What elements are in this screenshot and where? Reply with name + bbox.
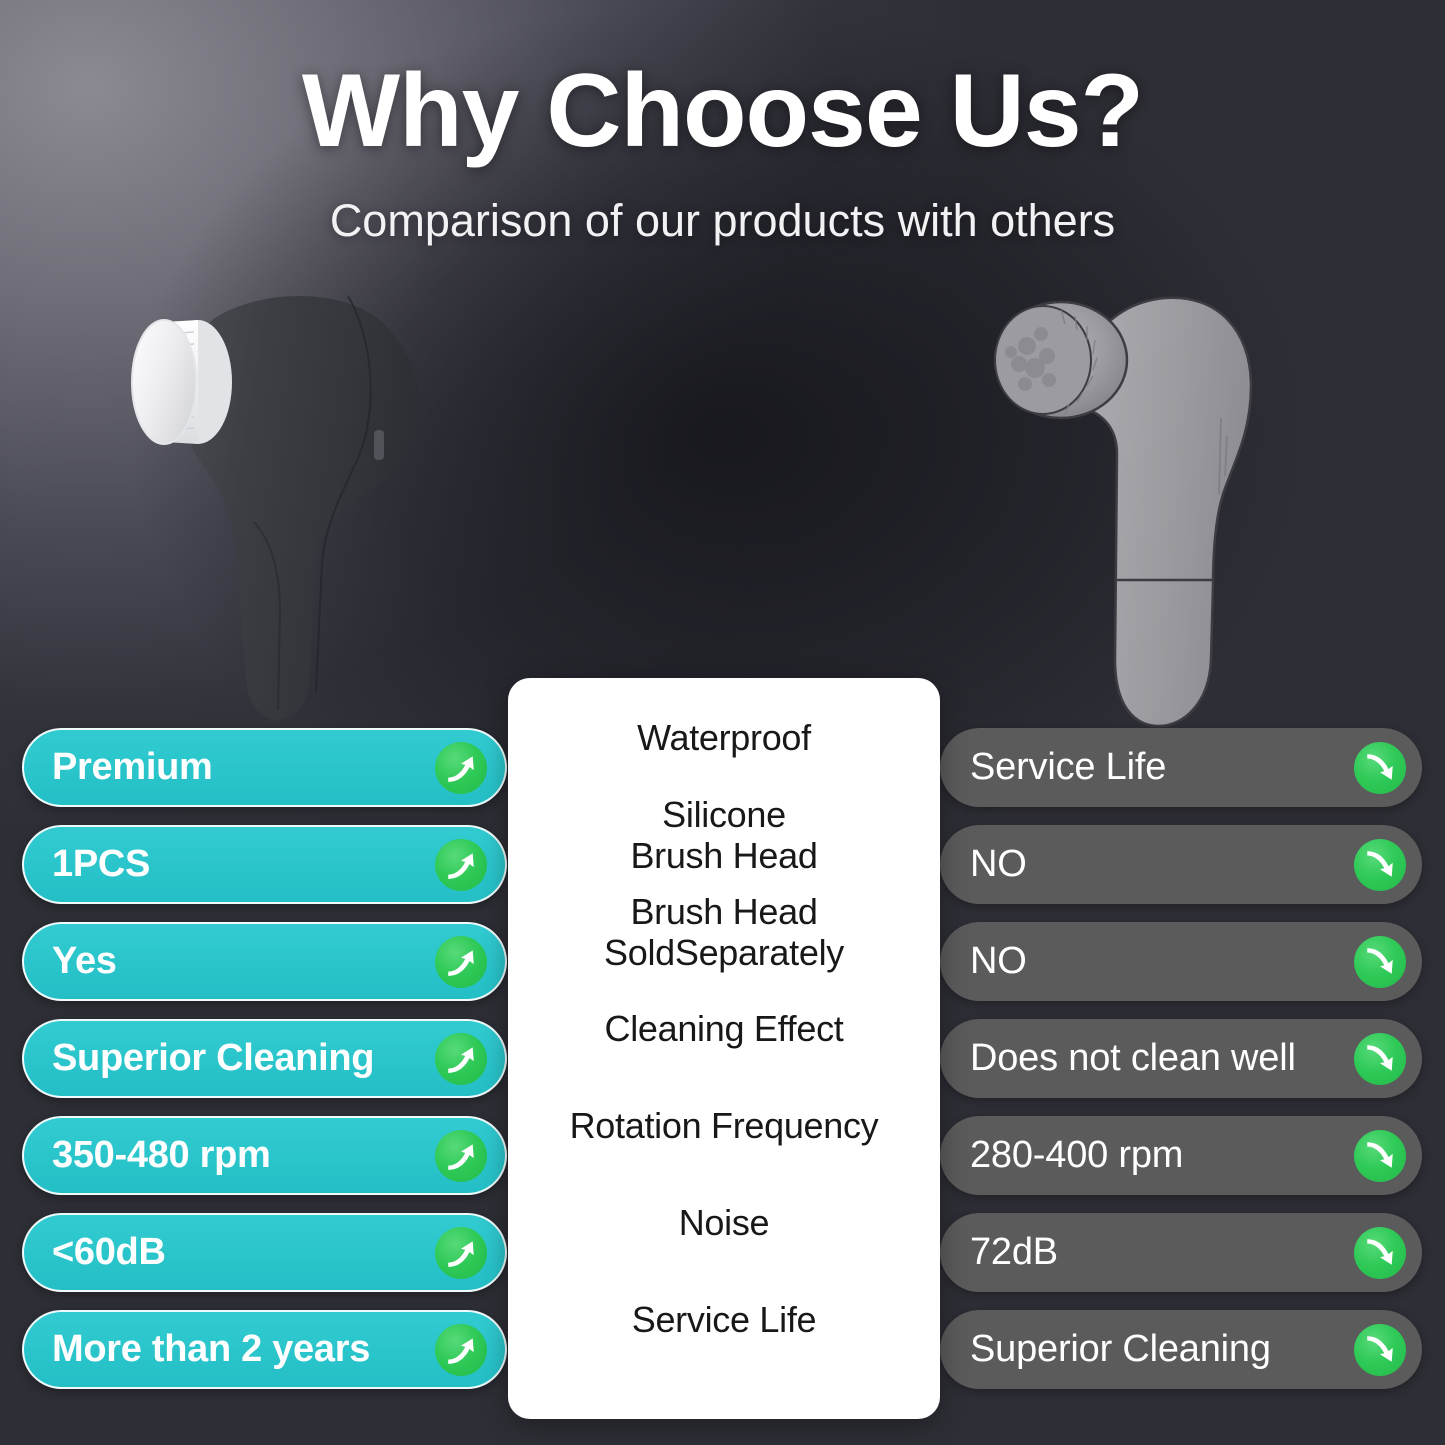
arrow-curve-up-icon: [435, 1324, 487, 1376]
competitor-value-text-5: 280-400 rpm: [970, 1134, 1354, 1177]
feature-label-6: Noise: [508, 1175, 940, 1272]
competitor-value-pill-7[interactable]: Superior Cleaning: [940, 1310, 1422, 1389]
feature-label-5-line1: Rotation Frequency: [570, 1105, 879, 1146]
our-value-pill-4[interactable]: Superior Cleaning: [22, 1019, 507, 1098]
feature-label-2-line1: Silicone: [662, 794, 786, 835]
arrow-curve-down-icon: [1354, 1324, 1406, 1376]
page-subtitle: Comparison of our products with others: [0, 196, 1445, 246]
feature-label-7: Service Life: [508, 1272, 940, 1369]
arrow-curve-down-icon: [1354, 936, 1406, 988]
arrow-curve-down-icon: [1354, 1227, 1406, 1279]
our-value-text-3: Yes: [52, 940, 435, 983]
arrow-curve-up-icon: [435, 1227, 487, 1279]
feature-label-4-line1: Cleaning Effect: [605, 1008, 844, 1049]
competitor-product-image: [965, 268, 1295, 738]
arrow-curve-up-icon: [435, 1033, 487, 1085]
arrow-curve-up-icon: [435, 1130, 487, 1182]
competitor-value-text-7: Superior Cleaning: [970, 1328, 1354, 1371]
competitor-value-pill-2[interactable]: NO: [940, 825, 1422, 904]
our-value-pill-1[interactable]: Premium: [22, 728, 507, 807]
our-value-pill-2[interactable]: 1PCS: [22, 825, 507, 904]
feature-label-5: Rotation Frequency: [508, 1078, 940, 1175]
competitor-value-pill-1[interactable]: Service Life: [940, 728, 1422, 807]
competitor-value-pill-4[interactable]: Does not clean well: [940, 1019, 1422, 1098]
competitor-value-pill-5[interactable]: 280-400 rpm: [940, 1116, 1422, 1195]
our-value-pill-3[interactable]: Yes: [22, 922, 507, 1001]
feature-label-2-line2: Brush Head: [630, 836, 817, 876]
competitor-value-pill-3[interactable]: NO: [940, 922, 1422, 1001]
competitor-value-text-6: 72dB: [970, 1231, 1354, 1274]
page-title: Why Choose Us?: [0, 58, 1445, 164]
our-value-text-6: <60dB: [52, 1231, 435, 1274]
arrow-curve-down-icon: [1354, 839, 1406, 891]
competitor-value-text-4: Does not clean well: [970, 1037, 1354, 1080]
arrow-curve-down-icon: [1354, 1130, 1406, 1182]
feature-label-3-line2: SoldSeparately: [604, 933, 844, 973]
competitor-value-text-2: NO: [970, 843, 1354, 886]
arrow-curve-down-icon: [1354, 742, 1406, 794]
feature-label-2: Silicone Brush Head: [508, 787, 940, 884]
arrow-curve-down-icon: [1354, 1033, 1406, 1085]
arrow-curve-up-icon: [435, 936, 487, 988]
feature-label-3: Brush Head SoldSeparately: [508, 884, 940, 981]
feature-label-1: Waterproof: [508, 690, 940, 787]
our-value-pill-6[interactable]: <60dB: [22, 1213, 507, 1292]
our-value-text-4: Superior Cleaning: [52, 1037, 435, 1080]
competitor-value-pill-6[interactable]: 72dB: [940, 1213, 1422, 1292]
feature-label-3-line1: Brush Head: [630, 891, 817, 932]
feature-label-6-line1: Noise: [679, 1202, 770, 1243]
our-value-text-1: Premium: [52, 746, 435, 789]
feature-label-7-line1: Service Life: [632, 1299, 817, 1340]
feature-label-4: Cleaning Effect: [508, 981, 940, 1078]
our-value-pill-5[interactable]: 350-480 rpm: [22, 1116, 507, 1195]
competitor-value-text-3: NO: [970, 940, 1354, 983]
arrow-curve-up-icon: [435, 839, 487, 891]
feature-label-1-line1: Waterproof: [637, 717, 811, 758]
arrow-curve-up-icon: [435, 742, 487, 794]
our-value-text-2: 1PCS: [52, 843, 435, 886]
competitor-value-text-1: Service Life: [970, 746, 1354, 789]
our-value-text-7: More than 2 years: [52, 1328, 435, 1371]
our-value-pill-7[interactable]: More than 2 years: [22, 1310, 507, 1389]
our-product-image: [86, 262, 446, 732]
our-value-text-5: 350-480 rpm: [52, 1134, 435, 1177]
feature-label-card: Waterproof Silicone Brush Head Brush Hea…: [508, 678, 940, 1419]
infographic-canvas: Why Choose Us? Comparison of our product…: [0, 0, 1445, 1445]
